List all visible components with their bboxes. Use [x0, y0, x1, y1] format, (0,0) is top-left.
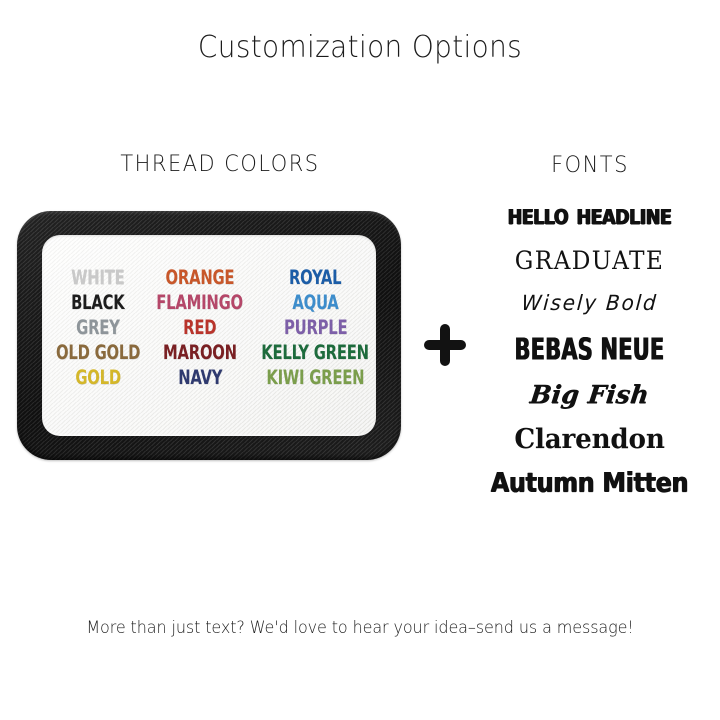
thread-color-swatch-label: OLD GOLD — [56, 340, 140, 365]
thread-color-swatch-label: AQUA — [292, 290, 338, 315]
font-samples-list: HELLO HEADLINEGRADUATEWisely BoldBEBAS N… — [462, 196, 717, 495]
font-sample-bigfish: Big Fish — [460, 382, 718, 407]
thread-color-swatch-label: GREY — [76, 315, 120, 340]
customization-options-page: Customization Options THREAD COLORS WHIT… — [0, 0, 720, 720]
thread-color-column-1: WHITEBLACKGREYOLD GOLDGOLD — [48, 265, 148, 390]
font-sample-hello: HELLO HEADLINE — [466, 200, 713, 229]
thread-color-swatch-label: ROYAL — [289, 265, 341, 290]
thread-color-swatch-label: FLAMINGO — [156, 290, 243, 315]
thread-color-swatch-label: PURPLE — [284, 315, 347, 340]
font-sample-wisely: Wisely Bold — [466, 293, 712, 314]
thread-color-column-2: ORANGEFLAMINGOREDMAROONNAVY — [148, 265, 251, 390]
thread-color-swatch-label: RED — [183, 315, 216, 340]
fonts-heading: FONTS — [476, 153, 704, 178]
thread-color-swatch-label: MAROON — [163, 340, 237, 365]
thread-color-swatch-label: BLACK — [71, 290, 124, 315]
page-title: Customization Options — [25, 30, 695, 65]
thread-color-swatch-label: NAVY — [178, 365, 222, 390]
thread-color-columns: WHITEBLACKGREYOLD GOLDGOLDORANGEFLAMINGO… — [42, 265, 376, 390]
font-sample-autumn: Autumn Mitten — [468, 469, 710, 496]
thread-color-swatch-label: KIWI GREEN — [266, 365, 364, 390]
thread-color-patch: WHITEBLACKGREYOLD GOLDGOLDORANGEFLAMINGO… — [17, 211, 401, 460]
plus-icon-vertical-bar — [440, 324, 450, 366]
font-sample-bebas: BEBAS NEUE — [488, 334, 692, 364]
footer-note: More than just text? We'd love to hear y… — [22, 618, 699, 638]
thread-color-swatch-label: ORANGE — [165, 265, 234, 290]
patch-face: WHITEBLACKGREYOLD GOLDGOLDORANGEFLAMINGO… — [42, 235, 376, 436]
thread-color-column-3: ROYALAQUAPURPLEKELLY GREENKIWI GREEN — [251, 265, 376, 390]
font-sample-graduate: GRADUATE — [471, 248, 708, 273]
thread-colors-heading: THREAD COLORS — [40, 152, 401, 177]
thread-color-swatch-label: GOLD — [75, 365, 121, 390]
font-sample-clarendon: Clarendon — [466, 426, 713, 453]
thread-color-swatch-label: WHITE — [71, 265, 124, 290]
plus-icon — [424, 324, 466, 366]
thread-color-swatch-label: KELLY GREEN — [262, 340, 370, 365]
